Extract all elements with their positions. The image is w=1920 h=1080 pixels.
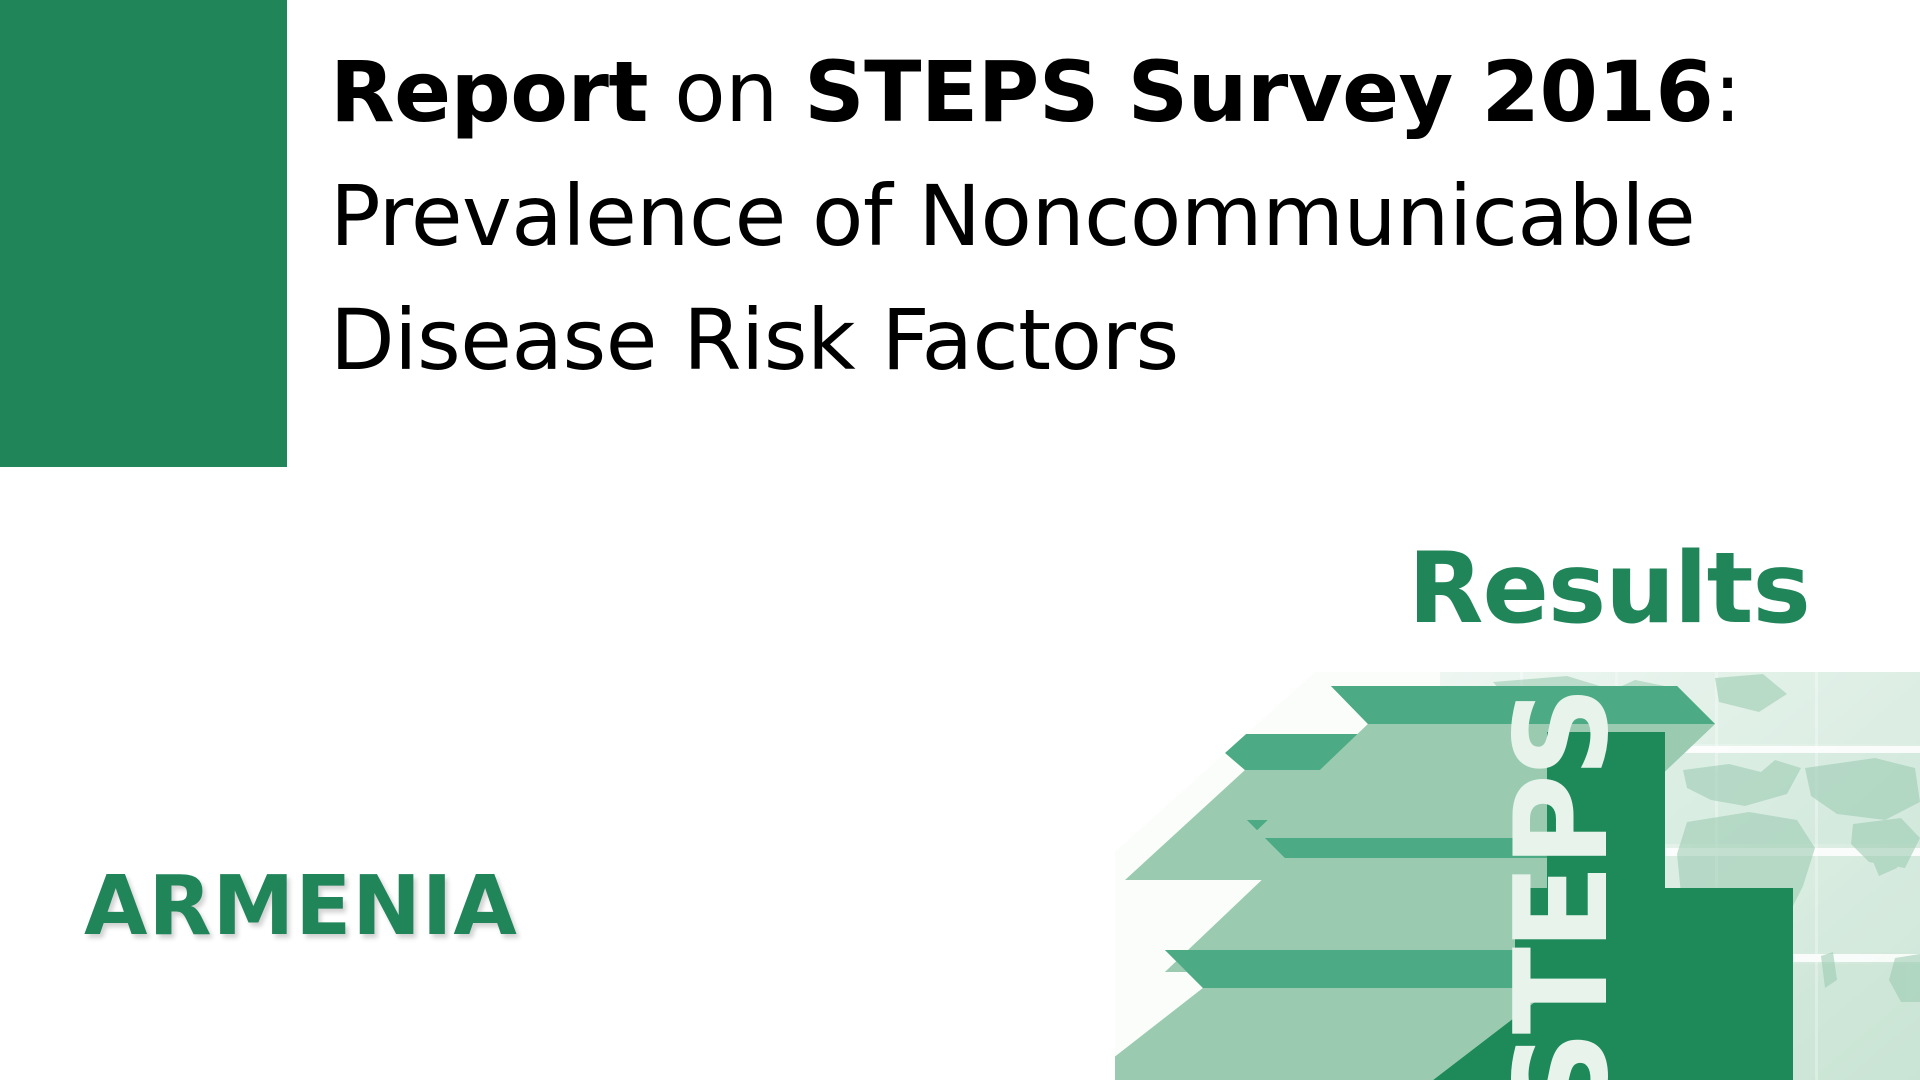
results-heading: Results: [1408, 534, 1810, 644]
title-word-on: on: [648, 43, 804, 141]
title-line-1: Report on STEPS Survey 2016:: [330, 30, 1890, 154]
title-line-3: Disease Risk Factors: [330, 278, 1890, 402]
steps-wordmark-text: STEPS: [1488, 690, 1637, 1080]
title-word-steps-survey-2016: STEPS Survey 2016: [804, 43, 1713, 141]
steps-logo-artwork: STEPS: [1115, 672, 1920, 1080]
country-name: ARMENIA: [84, 855, 518, 959]
page-title: Report on STEPS Survey 2016: Prevalence …: [330, 30, 1890, 402]
title-word-report: Report: [330, 43, 648, 141]
steps-wordmark: STEPS: [1488, 690, 1665, 1080]
title-line-2: Prevalence of Noncommunicable: [330, 154, 1890, 278]
report-cover-page: Report on STEPS Survey 2016: Prevalence …: [0, 0, 1920, 1080]
title-colon: :: [1713, 43, 1741, 141]
green-accent-block: [0, 0, 287, 467]
